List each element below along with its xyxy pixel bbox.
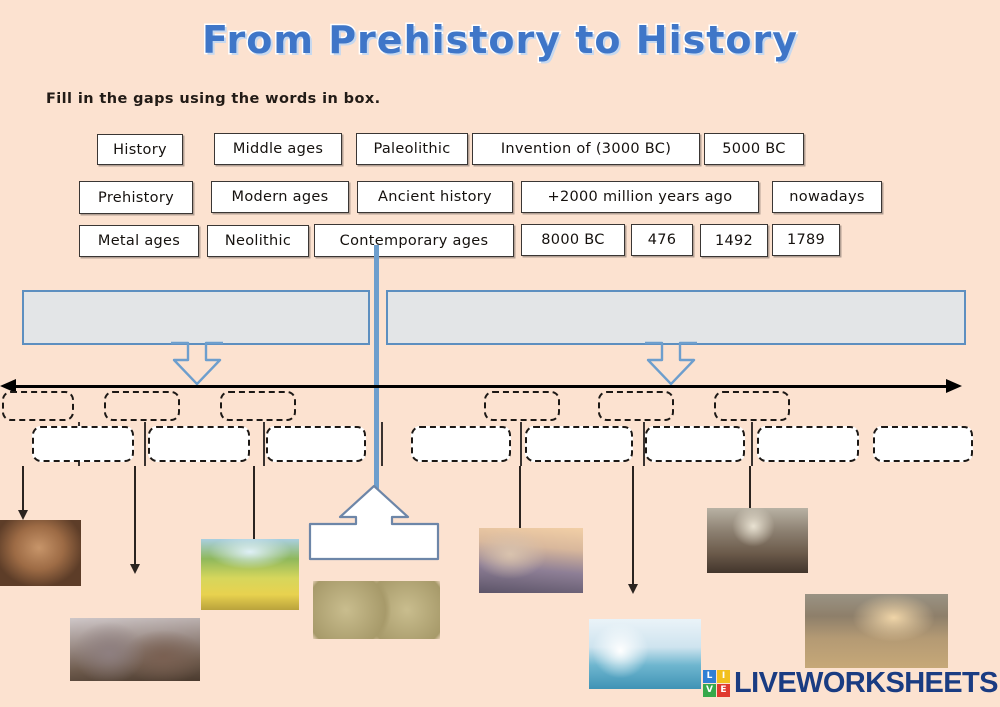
word-chip[interactable]: 1789 — [772, 224, 840, 256]
timeline-tick — [381, 422, 383, 466]
picture-cuneiform-tablets-image — [313, 581, 440, 639]
connector-arrowhead-icon — [130, 564, 140, 574]
word-chip[interactable]: Metal ages — [79, 225, 199, 257]
picture-neanderthal-image — [0, 520, 81, 586]
picture-columbus-voyage-image — [589, 619, 701, 689]
date-blank-3[interactable] — [220, 391, 296, 421]
logo-text: LIVEWORKSHEETS — [734, 667, 998, 700]
word-chip[interactable]: Invention of (3000 BC) — [472, 133, 700, 165]
callout-up-arrow-icon — [307, 484, 441, 562]
word-chip[interactable]: Modern ages — [211, 181, 349, 213]
picture-french-revolution — [707, 508, 808, 573]
picture-neolithic-farming — [201, 539, 299, 610]
writing-invention-callout[interactable] — [307, 484, 441, 562]
picture-modern-war-image — [805, 594, 948, 668]
connector-arrowhead-icon — [18, 510, 28, 520]
picture-columbus-voyage — [589, 619, 701, 689]
picture-cave-hunting-image — [70, 618, 200, 681]
logo-tile-i: I — [717, 670, 730, 683]
picture-french-revolution-image — [707, 508, 808, 573]
picture-neanderthal — [0, 520, 81, 586]
word-chip[interactable]: Paleolithic — [356, 133, 468, 165]
connector-stem — [632, 466, 634, 584]
period-blank-7[interactable] — [757, 426, 859, 462]
connector-arrowhead-icon — [628, 584, 638, 594]
word-chip[interactable]: 1492 — [700, 224, 768, 257]
period-blank-1[interactable] — [32, 426, 134, 462]
connector-stem — [134, 466, 136, 564]
word-chip[interactable]: Ancient history — [357, 181, 513, 213]
connector-stem — [519, 466, 521, 530]
logo-tile-v: V — [703, 684, 716, 697]
word-chip[interactable]: Contemporary ages — [314, 224, 514, 257]
period-blank-6[interactable] — [645, 426, 745, 462]
word-bank: HistoryMiddle agesPaleolithicInvention o… — [0, 0, 1000, 270]
connector-stem — [749, 466, 751, 514]
period-blank-4[interactable] — [411, 426, 511, 462]
picture-neolithic-farming-image — [201, 539, 299, 610]
picture-cave-hunting — [70, 618, 200, 681]
date-blank-5[interactable] — [598, 391, 674, 421]
liveworksheets-logo: LIVE LIVEWORKSHEETS — [703, 667, 998, 699]
worksheet-canvas: From Prehistory to History Fill in the g… — [0, 0, 1000, 707]
period-blank-2[interactable] — [148, 426, 250, 462]
left-period-box[interactable] — [22, 290, 370, 345]
word-chip[interactable]: +2000 million years ago — [521, 181, 759, 213]
word-chip[interactable]: Middle ages — [214, 133, 342, 165]
word-chip[interactable]: nowadays — [772, 181, 882, 213]
timeline-tick — [144, 422, 146, 466]
word-chip[interactable]: History — [97, 134, 183, 165]
word-chip[interactable]: Neolithic — [207, 225, 309, 257]
timeline-tick — [263, 422, 265, 466]
picture-fall-of-rome-image — [479, 528, 583, 593]
date-blank-1[interactable] — [2, 391, 74, 421]
period-blank-5[interactable] — [525, 426, 633, 462]
picture-fall-of-rome — [479, 528, 583, 593]
word-chip[interactable]: 8000 BC — [521, 224, 625, 256]
logo-tiles: LIVE — [703, 670, 730, 697]
timeline-axis — [10, 385, 946, 388]
word-chip[interactable]: Prehistory — [79, 181, 193, 214]
right-period-arrow — [643, 341, 699, 387]
timeline-tick — [520, 422, 522, 466]
period-blank-3[interactable] — [266, 426, 366, 462]
period-blank-8[interactable] — [873, 426, 973, 462]
right-period-box[interactable] — [386, 290, 966, 345]
timeline-arrow-right-icon — [946, 379, 962, 393]
prehistory-history-divider — [374, 245, 379, 495]
word-chip[interactable]: 5000 BC — [704, 133, 804, 165]
left-period-arrow — [169, 341, 225, 387]
logo-tile-l: L — [703, 670, 716, 683]
date-blank-2[interactable] — [104, 391, 180, 421]
date-blank-4[interactable] — [484, 391, 560, 421]
connector-stem — [22, 466, 24, 510]
logo-tile-e: E — [717, 684, 730, 697]
picture-modern-war — [805, 594, 948, 668]
date-blank-6[interactable] — [714, 391, 790, 421]
timeline-tick — [751, 422, 753, 466]
word-chip[interactable]: 476 — [631, 224, 693, 256]
connector-stem — [253, 466, 255, 546]
picture-cuneiform-tablets — [313, 581, 440, 639]
